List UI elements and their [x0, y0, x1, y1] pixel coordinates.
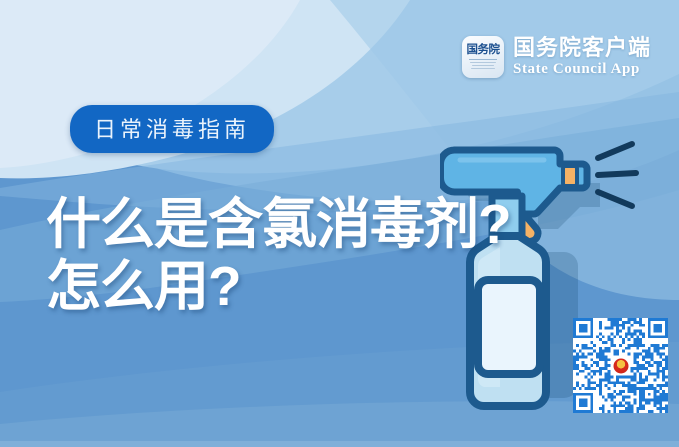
china-national-emblem-icon [611, 356, 630, 375]
app-branding: 国务院 国务院客户端 State Council App [462, 36, 651, 78]
logo-mark-texture [470, 62, 496, 70]
poster-root: 国务院 国务院客户端 State Council App 日常消毒指南 [0, 0, 679, 447]
nozzle-tip-accent [563, 166, 577, 186]
state-council-logo-icon: 国务院 [462, 36, 504, 78]
qr-code[interactable] [573, 318, 668, 413]
logo-mark-divider [469, 59, 497, 60]
headline-line-2: 怎么用? [46, 256, 511, 318]
headline-block: 什么是含氯消毒剂? 怎么用? [46, 194, 511, 317]
logo-mark-label: 国务院 [467, 45, 500, 57]
headline-line-1: 什么是含氯消毒剂? [46, 194, 511, 256]
brand-title-en: State Council App [513, 62, 651, 77]
brand-wordmark: 国务院客户端 State Council App [513, 37, 651, 77]
spray-lines-icon [598, 144, 636, 206]
brand-title-cn: 国务院客户端 [513, 37, 651, 59]
category-badge: 日常消毒指南 [70, 105, 274, 153]
